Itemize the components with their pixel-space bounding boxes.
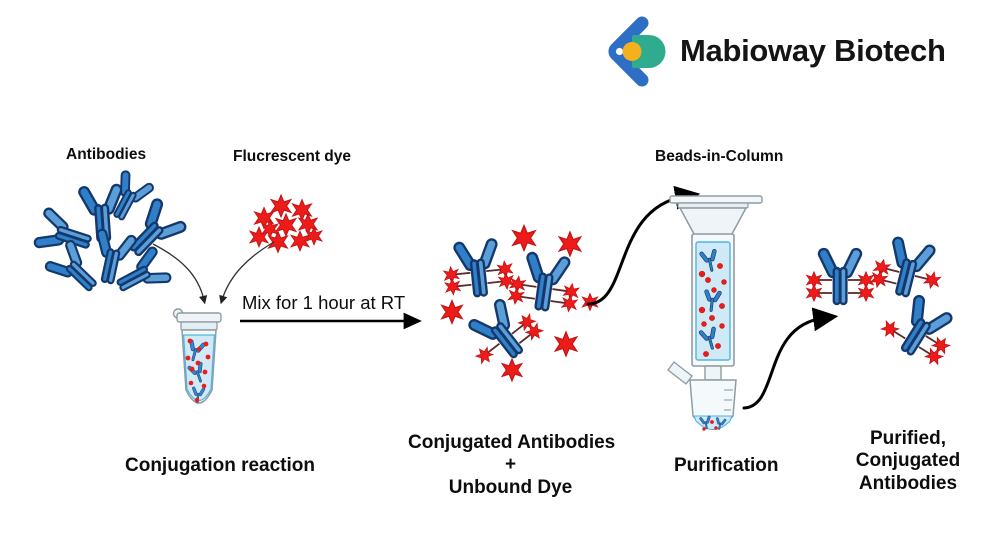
caption-line-3: Antibodies <box>838 473 978 495</box>
brand-name: Mabioway Biotech <box>680 33 946 69</box>
caption-conjugated-antibodies: Conjugated Antibodies + Unbound Dye <box>408 432 613 499</box>
label-fluorescent-dye: Flucrescent dye <box>233 148 351 166</box>
conjugation-tube <box>168 308 230 420</box>
brand-lockup: Mabioway Biotech <box>596 16 946 86</box>
caption-purification: Purification <box>674 455 779 477</box>
label-antibodies: Antibodies <box>66 146 146 164</box>
label-mix-step: Mix for 1 hour at RT <box>242 292 405 314</box>
diagram-canvas: Mabioway Biotech Antibodies Flucrescent … <box>0 0 994 534</box>
caption-line-1: Conjugated Antibodies <box>408 432 613 454</box>
caption-line-2: Conjugated <box>838 450 978 472</box>
caption-line-1: Purified, <box>838 428 978 450</box>
purified-antibody-cluster <box>800 238 980 368</box>
mix-step-arrow <box>240 316 426 332</box>
caption-purified-conjugated-antibodies: Purified, Conjugated Antibodies <box>838 428 978 495</box>
caption-line-2: + <box>408 454 613 476</box>
caption-conjugation-reaction: Conjugation reaction <box>125 455 315 477</box>
mabioway-logo-icon <box>596 16 666 86</box>
conjugated-antibody-cluster <box>430 222 600 382</box>
label-beads-in-column: Beads-in-Column <box>655 148 783 166</box>
caption-line-3: Unbound Dye <box>408 477 613 499</box>
